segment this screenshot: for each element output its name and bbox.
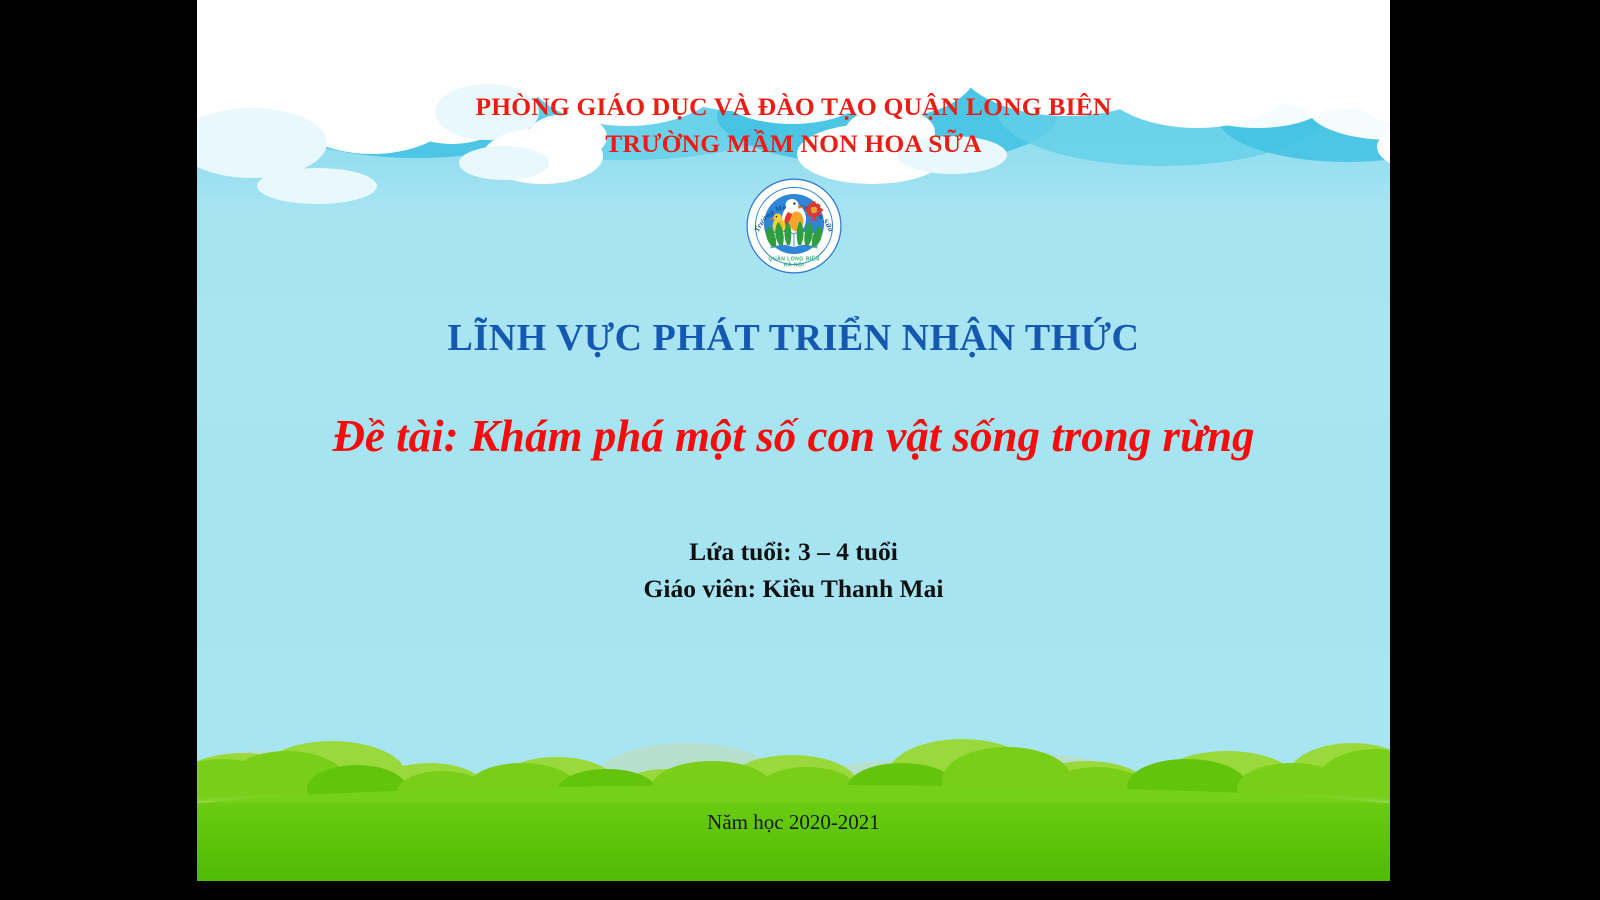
school-logo-icon: Trường Mầm non Hoa Sữa [744,176,844,276]
logo-bottom-line-2: HÀ NỘI [783,261,804,269]
school-logo: Trường Mầm non Hoa Sữa [744,176,844,276]
department-line-2: TRƯỜNG MẦM NON HOA SỮA [197,125,1390,162]
lesson-topic: Đề tài: Khám phá một số con vật sống tro… [197,405,1390,467]
age-group: Lứa tuổi: 3 – 4 tuổi [197,533,1390,570]
teacher-name: Giáo viên: Kiều Thanh Mai [197,570,1390,607]
logo-bottom-line-1: QUẬN LONG BIÊN [768,255,819,263]
lesson-meta: Lứa tuổi: 3 – 4 tuổi Giáo viên: Kiều Tha… [197,533,1390,607]
logo-year-mark: 2005 [809,217,819,222]
field-title: LĨNH VỰC PHÁT TRIỂN NHẬN THỨC [197,313,1390,363]
slide-content: PHÒNG GIÁO DỤC VÀ ĐÀO TẠO QUẬN LONG BIÊN… [197,0,1390,881]
presentation-slide: PHÒNG GIÁO DỤC VÀ ĐÀO TẠO QUẬN LONG BIÊN… [197,0,1390,881]
department-line-1: PHÒNG GIÁO DỤC VÀ ĐÀO TẠO QUẬN LONG BIÊN [475,92,1111,121]
school-year: Năm học 2020-2021 [197,808,1390,836]
department-heading: PHÒNG GIÁO DỤC VÀ ĐÀO TẠO QUẬN LONG BIÊN… [197,88,1390,162]
screen: PHÒNG GIÁO DỤC VÀ ĐÀO TẠO QUẬN LONG BIÊN… [0,0,1600,900]
